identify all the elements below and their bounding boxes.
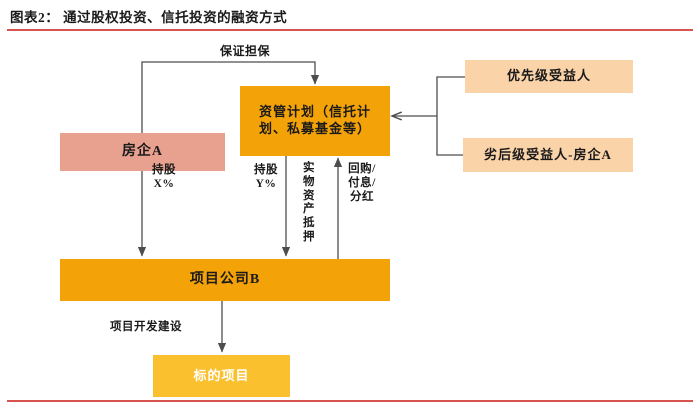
node-target-project[interactable]: 标的项目: [153, 355, 290, 397]
edge-label-project-development: 项目开发建设: [110, 321, 210, 335]
node-project-company-b[interactable]: 项目公司B: [60, 259, 390, 301]
node-senior-beneficiary[interactable]: 优先级受益人: [465, 60, 633, 93]
bottom-divider: [7, 400, 693, 402]
title-divider: [7, 29, 693, 31]
edge-label-shareholding-x: 持股 X%: [142, 164, 186, 191]
edge-label-guarantee: 保证担保: [190, 44, 300, 58]
edge-label-repurchase-interest-dividend: 回购/ 付息/ 分红: [345, 162, 379, 204]
diagram-canvas: 房企A 资管计划（信托计划、私募基金等） 优先级受益人 劣后级受益人-房企A 项…: [0, 32, 700, 400]
edge-label-asset-pledge: 实物 资产 抵押: [298, 162, 320, 245]
node-subordinate-beneficiary[interactable]: 劣后级受益人-房企A: [463, 138, 633, 172]
node-asset-management-plan[interactable]: 资管计划（信托计划、私募基金等）: [240, 86, 390, 156]
edge-label-shareholding-y: 持股 Y%: [244, 164, 288, 191]
page-title: 图表2： 通过股权投资、信托投资的融资方式: [10, 6, 287, 26]
figure-header: 图表2： 通过股权投资、信托投资的融资方式: [0, 0, 700, 34]
